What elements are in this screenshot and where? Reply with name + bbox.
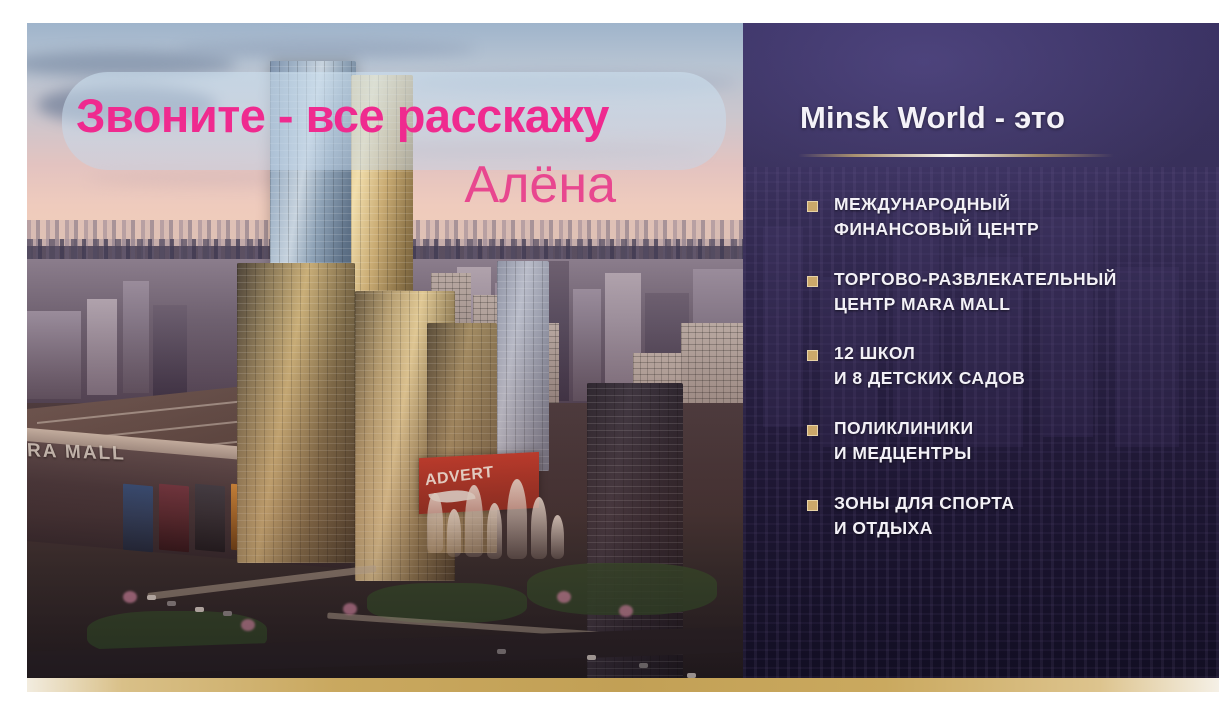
list-item-label: МЕЖДУНАРОДНЫЙ ФИНАНСОВЫЙ ЦЕНТР [834, 194, 1039, 239]
building-block [87, 299, 117, 395]
list-item: ПОЛИКЛИНИКИ И МЕДЦЕНТРЫ [800, 416, 1200, 466]
bullet-square-icon [807, 425, 818, 436]
blossom-tree [619, 605, 633, 617]
billboard [159, 483, 189, 552]
bullet-square-icon [807, 350, 818, 361]
car [587, 655, 596, 660]
fountain [531, 497, 547, 559]
building-block [27, 311, 81, 399]
car [195, 607, 204, 612]
list-item: МЕЖДУНАРОДНЫЙ ФИНАНСОВЫЙ ЦЕНТР [800, 192, 1200, 242]
billboard [195, 483, 225, 552]
fountain [427, 493, 443, 553]
tower [237, 263, 355, 563]
blossom-tree [241, 619, 255, 631]
cloud [177, 41, 477, 57]
list-item-label: ТОРГОВО-РАЗВЛЕКАТЕЛЬНЫЙ ЦЕНТР MARA MALL [834, 269, 1117, 314]
fountain [507, 479, 527, 559]
building-block [123, 281, 149, 393]
fountain [487, 503, 502, 559]
list-item: ЗОНЫ ДЛЯ СПОРТА И ОТДЫХА [800, 491, 1200, 541]
car [223, 611, 232, 616]
fountain [447, 509, 461, 557]
bullet-square-icon [807, 201, 818, 212]
footer-accent-bar [27, 678, 1219, 692]
agent-name-text: Алёна [76, 155, 616, 215]
fountain [551, 515, 564, 559]
feature-list: МЕЖДУНАРОДНЫЙ ФИНАНСОВЫЙ ЦЕНТР ТОРГОВО-Р… [800, 192, 1200, 565]
mall-sign-label: RA MALL [27, 440, 126, 466]
list-item: 12 ШКОЛ И 8 ДЕТСКИХ САДОВ [800, 341, 1200, 391]
blossom-tree [123, 591, 137, 603]
car [147, 595, 156, 600]
tower [497, 261, 549, 471]
billboard [123, 483, 153, 552]
blossom-tree [557, 591, 571, 603]
list-item-label: ЗОНЫ ДЛЯ СПОРТА И ОТДЫХА [834, 493, 1014, 538]
building-block [153, 305, 187, 397]
advert-billboard-label: ADVERT [424, 464, 494, 490]
title-divider [798, 154, 1114, 157]
list-item: ТОРГОВО-РАЗВЛЕКАТЕЛЬНЫЙ ЦЕНТР MARA MALL [800, 267, 1200, 317]
bullet-square-icon [807, 500, 818, 511]
blossom-tree [343, 603, 357, 615]
presentation-slide: RA MALL ADVERT [0, 0, 1225, 709]
fountain [465, 485, 483, 557]
car [639, 663, 648, 668]
bullet-square-icon [807, 276, 818, 287]
car [497, 649, 506, 654]
panel-title: Minsk World - это [800, 100, 1065, 136]
list-item-label: 12 ШКОЛ И 8 ДЕТСКИХ САДОВ [834, 343, 1025, 388]
list-item-label: ПОЛИКЛИНИКИ И МЕДЦЕНТРЫ [834, 418, 974, 463]
car [167, 601, 176, 606]
headline-text: Звоните - все расскажу [76, 88, 716, 143]
